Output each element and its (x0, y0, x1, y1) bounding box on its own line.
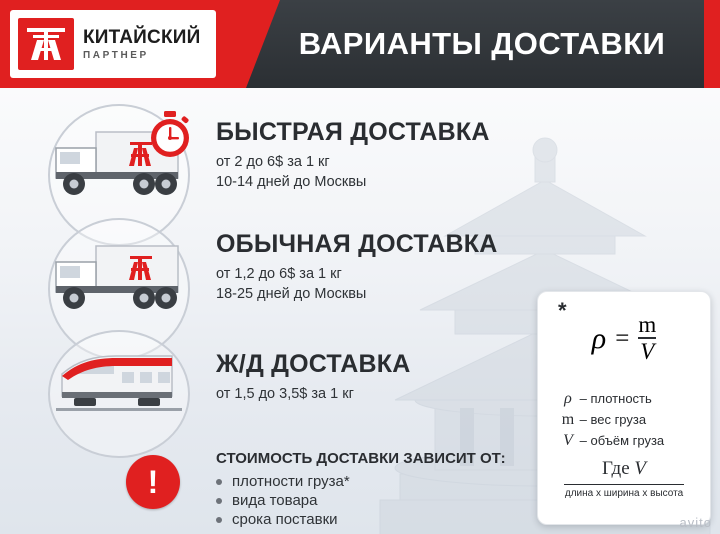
stopwatch-icon (146, 110, 194, 165)
logo-text: КИТАЙСКИЙ ПАРТНЕР (83, 28, 200, 61)
option-1-price: от 2 до 6$ за 1 кг (216, 154, 490, 170)
legend-text: – плотность (580, 391, 652, 406)
legend-row: m – вес груза (560, 409, 710, 430)
exclamation-icon: ! (126, 455, 180, 509)
legend-symbol: m (560, 409, 576, 430)
logo-line2: ПАРТНЕР (83, 51, 200, 61)
list-item: срока поставки (216, 510, 350, 529)
where-label: Где (602, 458, 630, 479)
legend-symbol: ρ (560, 388, 576, 409)
list-item: плотности груза* (216, 472, 350, 491)
legend-text: – объём груза (580, 433, 665, 448)
formula-legend: ρ – плотность m – вес груза V – объём гр… (560, 388, 710, 451)
formula-denominator: V (638, 340, 656, 364)
where-line: Где V (538, 458, 710, 480)
formula-numerator: m (638, 314, 656, 336)
header-bar: КИТАЙСКИЙ ПАРТНЕР ВАРИАНТЫ ДОСТАВКИ (0, 0, 720, 88)
where-divider (564, 484, 684, 485)
poster-root: КИТАЙСКИЙ ПАРТНЕР ВАРИАНТЫ ДОСТАВКИ (0, 0, 720, 534)
exclamation-glyph: ! (148, 466, 159, 498)
option-3: Ж/Д ДОСТАВКА от 1,5 до 3,5$ за 1 кг (216, 350, 411, 402)
cost-title: СТОИМОСТЬ ДОСТАВКИ ЗАВИСИТ ОТ: (216, 450, 506, 467)
header-accent-stripe (704, 0, 720, 88)
option-2-term: 18-25 дней до Москвы (216, 286, 497, 302)
cost-list: плотности груза* вида товара срока поста… (216, 472, 350, 529)
logo-line1: КИТАЙСКИЙ (83, 28, 200, 47)
list-item: вида товара (216, 491, 350, 510)
formula-expression: ρ = m V (538, 314, 710, 364)
legend-text: – вес груза (580, 412, 646, 427)
option-2-title: ОБЫЧНАЯ ДОСТАВКА (216, 230, 497, 259)
option-3-title: Ж/Д ДОСТАВКА (216, 350, 411, 379)
where-symbol: V (634, 458, 646, 479)
option-1: БЫСТРАЯ ДОСТАВКА от 2 до 6$ за 1 кг 10-1… (216, 118, 490, 190)
option-2: ОБЫЧНАЯ ДОСТАВКА от 1,2 до 6$ за 1 кг 18… (216, 230, 497, 302)
where-formula: длина х ширина х высота (538, 488, 710, 499)
legend-row: ρ – плотность (560, 388, 710, 409)
density-formula-card: * ρ = m V ρ – плотность m – вес груза V … (537, 291, 711, 525)
legend-symbol: V (560, 430, 576, 451)
legend-row: V – объём груза (560, 430, 710, 451)
page-title: ВАРИАНТЫ ДОСТАВКИ (262, 26, 702, 62)
formula-equals: = (615, 325, 629, 352)
formula-fraction: m V (638, 314, 656, 364)
train-icon (56, 352, 182, 431)
truck-icon (52, 232, 188, 323)
option-2-price: от 1,2 до 6$ за 1 кг (216, 266, 497, 282)
formula-rho: ρ (592, 322, 606, 355)
option-1-title: БЫСТРАЯ ДОСТАВКА (216, 118, 490, 147)
option-3-price: от 1,5 до 3,5$ за 1 кг (216, 386, 411, 402)
option-1-term: 10-14 дней до Москвы (216, 174, 490, 190)
chinese-gate-logo-icon (18, 18, 74, 70)
avito-watermark: avito (680, 515, 712, 530)
logo-block: КИТАЙСКИЙ ПАРТНЕР (10, 10, 216, 78)
